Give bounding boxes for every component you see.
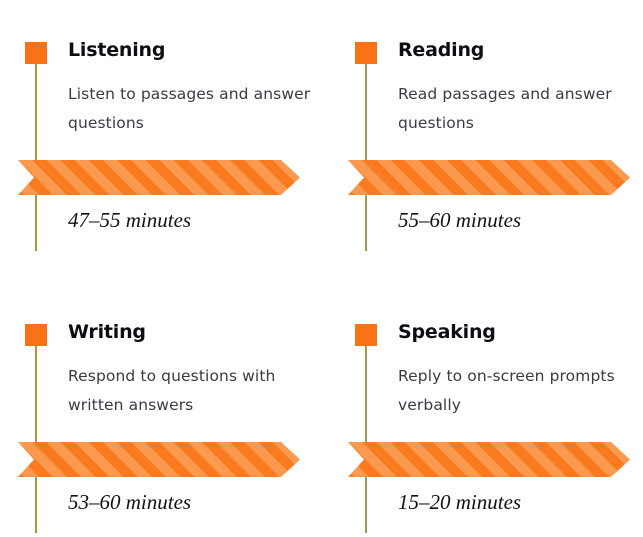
section-description: Read passages and answer questions [398, 80, 643, 138]
timeline-stem [35, 53, 37, 251]
section-description: Reply to on-screen prompts verbally [398, 362, 643, 420]
duration-banner-arrow [348, 160, 630, 195]
orange-square-icon [25, 324, 47, 346]
duration-banner-arrow [18, 160, 300, 195]
section-heading: Speaking [398, 321, 496, 343]
section-heading: Writing [68, 321, 146, 343]
test-sections-infographic: Listening Listen to passages and answer … [0, 0, 643, 537]
orange-square-icon [355, 324, 377, 346]
section-duration: 55–60 minutes [398, 208, 521, 233]
duration-banner-arrow [18, 442, 300, 477]
section-duration: 15–20 minutes [398, 490, 521, 515]
orange-square-icon [25, 42, 47, 64]
timeline-stem [35, 335, 37, 533]
section-description: Respond to questions with written answer… [68, 362, 323, 420]
section-duration: 53–60 minutes [68, 490, 191, 515]
timeline-stem [365, 53, 367, 251]
section-heading: Reading [398, 39, 484, 61]
duration-banner-arrow [348, 442, 630, 477]
orange-square-icon [355, 42, 377, 64]
section-duration: 47–55 minutes [68, 208, 191, 233]
section-heading: Listening [68, 39, 165, 61]
timeline-stem [365, 335, 367, 533]
section-description: Listen to passages and answer questions [68, 80, 323, 138]
